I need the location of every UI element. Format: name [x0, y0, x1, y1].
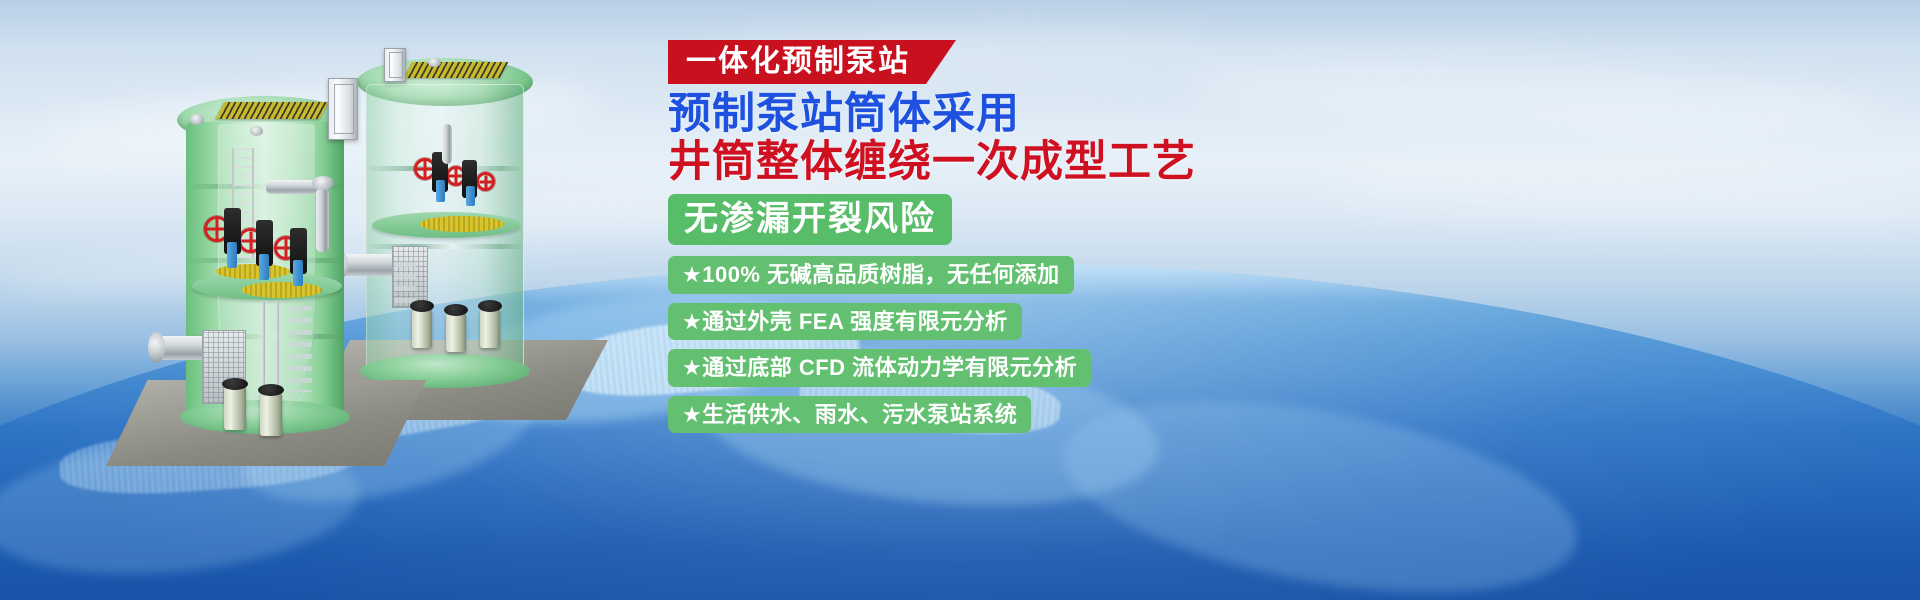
feature-pill: ★通过底部 CFD 流体动力学有限元分析: [668, 349, 1091, 387]
submersible-pump: [224, 386, 246, 430]
submersible-pump: [260, 392, 282, 436]
product-category-tag: 一体化预制泵站: [668, 40, 956, 84]
pump-motor-cap: [222, 378, 248, 390]
feature-list: ★100% 无碱高品质树脂，无任何添加 ★通过外壳 FEA 强度有限元分析 ★通…: [668, 256, 1798, 442]
product-image-left: [90, 50, 470, 470]
control-cabinet: [328, 78, 358, 140]
valve-actuator: [227, 242, 237, 268]
feature-pill: ★生活供水、雨水、污水泵站系统: [668, 396, 1031, 434]
pipe-flange: [148, 332, 165, 363]
pump-motor-cap: [478, 300, 502, 312]
list-item: ★100% 无碱高品质树脂，无任何添加: [668, 256, 1798, 303]
cabinet-door: [334, 84, 354, 134]
headline-primary: 预制泵站筒体采用: [668, 90, 1798, 138]
valve-handwheel-icon: [476, 172, 495, 191]
list-item: ★通过底部 CFD 流体动力学有限元分析: [668, 349, 1798, 396]
discharge-riser: [316, 188, 329, 252]
list-item: ★生活供水、雨水、污水泵站系统: [668, 396, 1798, 443]
banner-copy: 一体化预制泵站 预制泵站筒体采用 井筒整体缠绕一次成型工艺 无渗漏开裂风险 ★1…: [668, 40, 1798, 442]
pump-motor-cap: [258, 384, 284, 396]
headline-secondary: 井筒整体缠绕一次成型工艺: [668, 138, 1798, 186]
platform-grating: [242, 282, 322, 298]
feature-pill: ★100% 无碱高品质树脂，无任何添加: [668, 256, 1074, 294]
pipe-flange: [312, 176, 334, 190]
baffle-fins: [290, 306, 312, 392]
list-item: ★通过外壳 FEA 强度有限元分析: [668, 303, 1798, 350]
promo-banner: 一体化预制泵站 预制泵站筒体采用 井筒整体缠绕一次成型工艺 无渗漏开裂风险 ★1…: [0, 0, 1920, 600]
feature-pill: ★通过外壳 FEA 强度有限元分析: [668, 303, 1022, 341]
access-grate: [215, 102, 328, 119]
valve-actuator: [293, 260, 303, 286]
vent-cap: [250, 126, 263, 136]
submersible-pump: [480, 308, 500, 348]
vent-cap: [190, 114, 204, 125]
valve-actuator: [259, 254, 269, 280]
hero-benefit-pill: 无渗漏开裂风险: [668, 194, 952, 245]
